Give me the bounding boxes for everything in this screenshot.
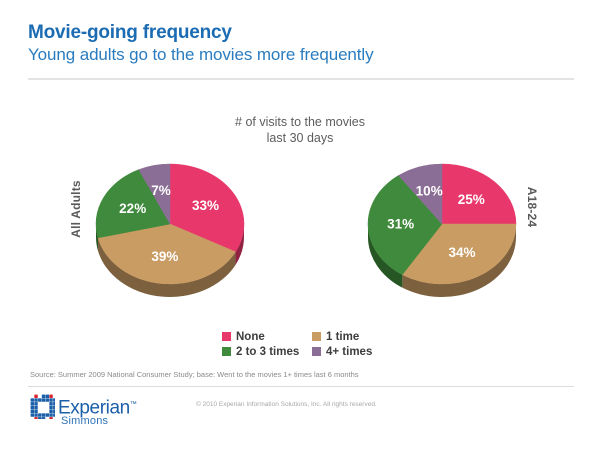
legend-item-none: None xyxy=(222,331,312,343)
pie-svg-all-adults: 33%39%22%7% xyxy=(90,158,250,308)
pie-graphic-a18-24: 25%34%31%10% xyxy=(362,158,522,308)
pie-graphic-all-adults: 33%39%22%7% xyxy=(90,158,250,308)
pie-svg-a18-24: 25%34%31%10% xyxy=(362,158,522,308)
legend-swatch-2-to-3-times xyxy=(222,347,231,356)
pie-slice-label: 7% xyxy=(151,183,171,198)
legend-item-4-plus-times: 4+ times xyxy=(312,346,402,358)
legend-swatch-1-time xyxy=(312,332,321,341)
pie-slice-label: 10% xyxy=(416,184,443,199)
chart-legend: None 1 time 2 to 3 times 4+ times xyxy=(222,329,402,359)
slide-root: Movie-going frequency Young adults go to… xyxy=(0,0,600,450)
experian-sub-brand: Simmons xyxy=(61,415,108,427)
pie-axis-label-all-adults: All Adults xyxy=(69,169,83,249)
legend-item-2-to-3-times: 2 to 3 times xyxy=(222,346,312,358)
pie-axis-label-a18-24: A18-24 xyxy=(525,167,539,247)
legend-swatch-none xyxy=(222,332,231,341)
pie-slice-label: 33% xyxy=(192,198,219,213)
legend-label-1-time: 1 time xyxy=(326,331,359,343)
legend-label-none: None xyxy=(236,331,265,343)
chart-title-line2: last 30 days xyxy=(0,130,600,146)
copyright-text: © 2010 Experian Information Solutions, I… xyxy=(196,401,377,408)
experian-logo-icon xyxy=(30,394,55,419)
chart-title-line1: # of visits to the movies xyxy=(0,114,600,130)
legend-item-1-time: 1 time xyxy=(312,331,402,343)
pie-chart-all-adults: All Adults 33%39%22%7% xyxy=(58,150,268,330)
slide-header: Movie-going frequency Young adults go to… xyxy=(28,22,573,65)
page-subtitle: Young adults go to the movies more frequ… xyxy=(28,44,573,65)
legend-label-4-plus-times: 4+ times xyxy=(326,346,372,358)
page-title: Movie-going frequency xyxy=(28,22,573,44)
legend-label-2-to-3-times: 2 to 3 times xyxy=(236,346,299,358)
source-note: Source: Summer 2009 National Consumer St… xyxy=(30,370,359,379)
pie-chart-area: All Adults 33%39%22%7% A18-24 25%34%31%1… xyxy=(0,150,600,330)
pie-slice-label: 25% xyxy=(458,192,485,207)
pie-slice-label: 34% xyxy=(448,245,475,260)
footer-divider xyxy=(28,386,574,387)
legend-swatch-4-plus-times xyxy=(312,347,321,356)
pie-slice-label: 39% xyxy=(151,249,178,264)
trademark-icon: ™ xyxy=(130,401,137,408)
pie-slice-label: 22% xyxy=(119,201,146,216)
chart-title: # of visits to the movies last 30 days xyxy=(0,114,600,146)
experian-logo: Experian™ Simmons xyxy=(30,393,190,438)
header-divider xyxy=(28,78,574,80)
pie-slice-label: 31% xyxy=(387,217,414,232)
pie-chart-a18-24: A18-24 25%34%31%10% xyxy=(330,150,540,330)
